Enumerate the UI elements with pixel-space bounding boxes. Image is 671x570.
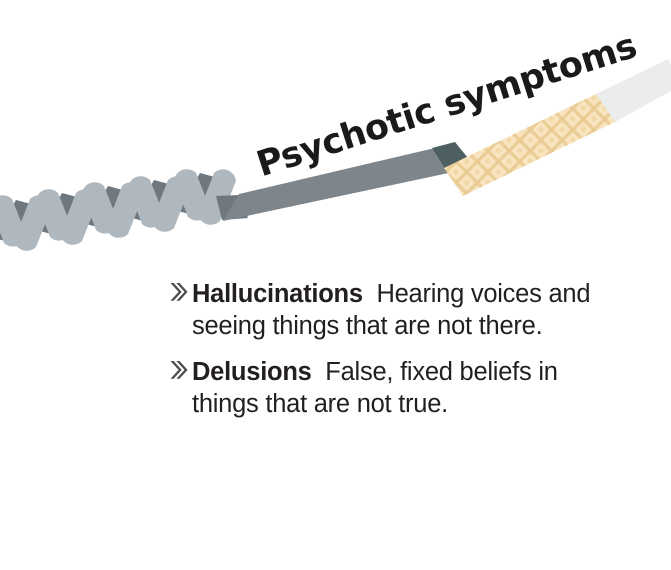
list-item: HallucinationsHearing voices and seeing … [170,278,600,342]
list-item-text: HallucinationsHearing voices and seeing … [192,278,600,342]
list-item: DelusionsFalse, fixed beliefs in things … [170,356,600,420]
double-chevron-right-icon [170,356,192,380]
symptom-term: Hallucinations [192,280,376,308]
infographic-page: Psychotic symptoms HallucinationsHearing… [0,0,671,570]
list-item-text: DelusionsFalse, fixed beliefs in things … [192,356,600,420]
symptom-term: Delusions [192,358,325,386]
symptom-list: HallucinationsHearing voices and seeing … [170,278,600,435]
double-chevron-right-icon [170,278,192,302]
